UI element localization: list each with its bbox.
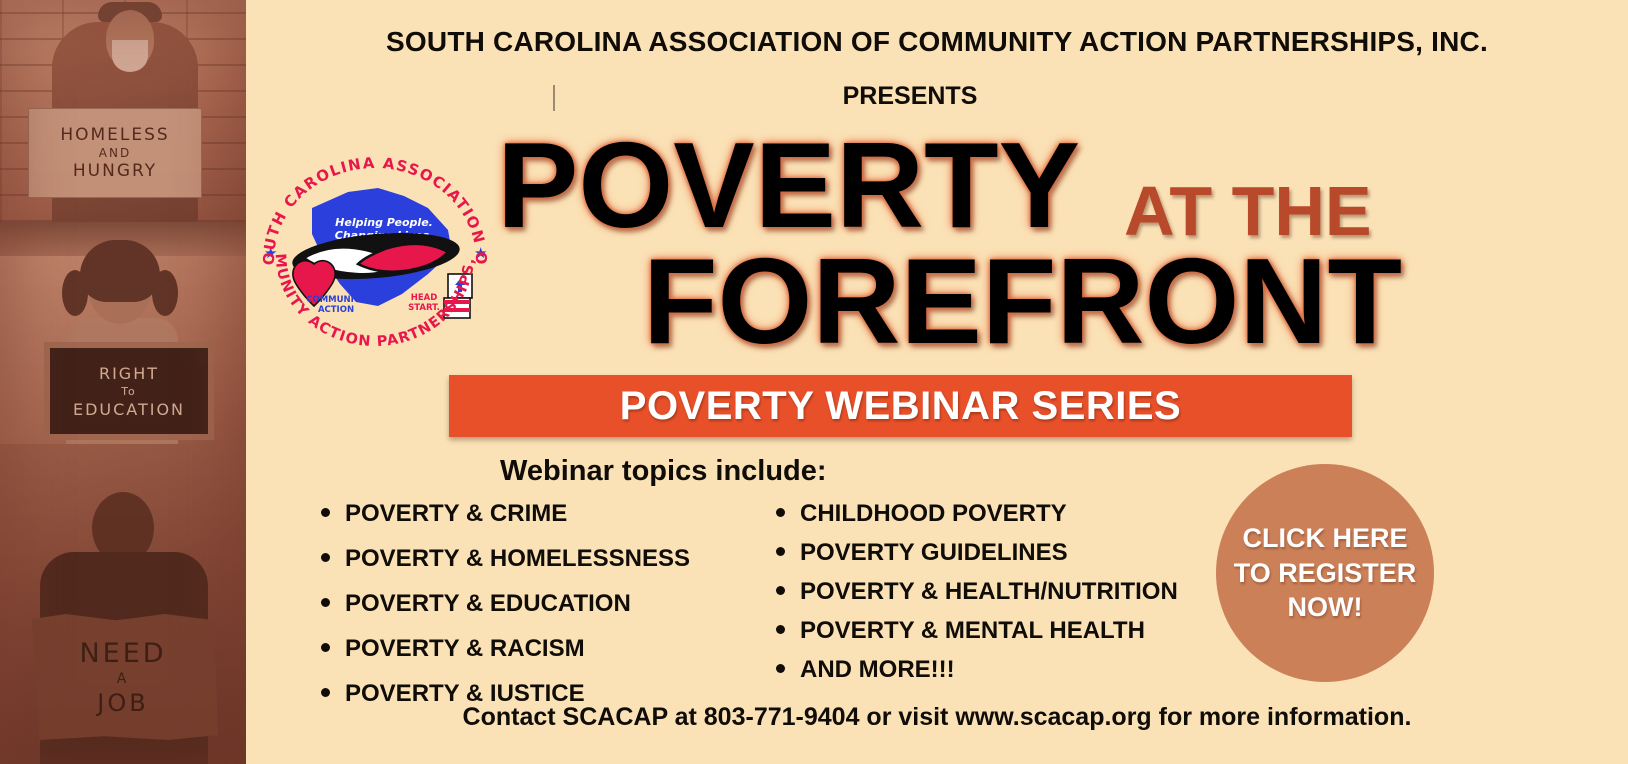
photo-homeless-and-hungry: HOMELESS AND HUNGRY xyxy=(0,0,246,222)
topic-label: CHILDHOOD POVERTY xyxy=(800,500,1067,528)
list-item: POVERTY & RACISM xyxy=(321,635,690,663)
photo-need-a-job: NEED A JOB xyxy=(0,444,246,764)
bullet-icon xyxy=(776,586,785,595)
cta-line-3: NOW! xyxy=(1288,593,1363,621)
photo-right-to-education: RIGHT To EDUCATION xyxy=(0,222,246,444)
education-sign-line1: RIGHT xyxy=(99,364,159,383)
topic-label: POVERTY & CRIME xyxy=(345,500,567,528)
education-sign-line3: EDUCATION xyxy=(73,400,185,419)
title-forefront: FOREFRONT xyxy=(643,240,1402,362)
topic-label: POVERTY GUIDELINES xyxy=(800,539,1068,567)
man-beard xyxy=(112,40,148,72)
presents-label: PRESENTS xyxy=(560,82,1260,111)
bullet-icon xyxy=(321,508,330,517)
cta-line-1: CLICK HERE xyxy=(1242,524,1407,552)
list-item: CHILDHOOD POVERTY xyxy=(776,500,1178,528)
topic-label: POVERTY & RACISM xyxy=(345,635,585,663)
job-sign-line2: A xyxy=(117,671,130,687)
register-now-button[interactable]: CLICK HERE TO REGISTER NOW! xyxy=(1216,464,1434,682)
logo-tagline-line1: Helping People. xyxy=(335,216,433,229)
homeless-sign-line3: HUNGRY xyxy=(73,161,157,181)
homeless-sign-line1: HOMELESS xyxy=(60,125,169,145)
bullet-icon xyxy=(321,598,330,607)
list-item: AND MORE!!! xyxy=(776,656,1178,684)
title-poverty: POVERTY xyxy=(497,124,1080,246)
bullet-icon xyxy=(776,547,785,556)
list-item: POVERTY & HEALTH/NUTRITION xyxy=(776,578,1178,606)
list-item: POVERTY & EDUCATION xyxy=(321,590,690,618)
bullet-icon xyxy=(776,508,785,517)
photo-strip: HOMELESS AND HUNGRY RIGHT To EDUCATION xyxy=(0,0,246,764)
contact-information: Contact SCACAP at 803-771-9404 or visit … xyxy=(246,703,1628,732)
education-sign-line2: To xyxy=(121,385,137,398)
education-chalkboard: RIGHT To EDUCATION xyxy=(44,342,214,440)
head-start-line1: HEAD xyxy=(411,293,438,303)
topics-list-left: POVERTY & CRIME POVERTY & HOMELESSNESS P… xyxy=(321,500,690,725)
job-sign-line1: NEED xyxy=(79,638,166,669)
text-cursor-caret xyxy=(553,85,555,111)
webinar-series-label: POVERTY WEBINAR SERIES xyxy=(620,384,1181,429)
list-item: POVERTY & CRIME xyxy=(321,500,690,528)
bullet-icon xyxy=(321,553,330,562)
topics-heading: Webinar topics include: xyxy=(500,455,827,488)
list-item: POVERTY GUIDELINES xyxy=(776,539,1178,567)
topic-label: AND MORE!!! xyxy=(800,656,955,684)
bullet-icon xyxy=(321,688,330,697)
cta-line-2: TO REGISTER xyxy=(1234,559,1417,587)
topic-label: POVERTY & HOMELESSNESS xyxy=(345,545,690,573)
bullet-icon xyxy=(321,643,330,652)
girl-hair xyxy=(80,240,160,302)
topics-list-right: CHILDHOOD POVERTY POVERTY GUIDELINES POV… xyxy=(776,500,1178,695)
homeless-sign: HOMELESS AND HUNGRY xyxy=(28,108,202,198)
head-start-line2: START. xyxy=(408,303,440,313)
list-item: POVERTY & MENTAL HEALTH xyxy=(776,617,1178,645)
community-action-line1: COMMUNITY xyxy=(306,295,366,305)
webinar-series-banner: POVERTY WEBINAR SERIES xyxy=(449,375,1352,437)
list-item: POVERTY & HOMELESSNESS xyxy=(321,545,690,573)
need-a-job-sign: NEED A JOB xyxy=(28,614,218,740)
community-action-line2: ACTION xyxy=(318,305,354,315)
topic-label: POVERTY & EDUCATION xyxy=(345,590,631,618)
topic-label: POVERTY & HEALTH/NUTRITION xyxy=(800,578,1178,606)
topic-label: POVERTY & MENTAL HEALTH xyxy=(800,617,1145,645)
scacap-logo: Helping People. Changing Lives. COMMUNIT… xyxy=(252,134,498,354)
job-sign-line3: JOB xyxy=(97,689,148,717)
organization-title: SOUTH CAROLINA ASSOCIATION OF COMMUNITY … xyxy=(246,26,1628,58)
bullet-icon xyxy=(776,664,785,673)
homeless-sign-line2: AND xyxy=(99,146,131,160)
bullet-icon xyxy=(776,625,785,634)
poverty-webinar-banner: HOMELESS AND HUNGRY RIGHT To EDUCATION xyxy=(0,0,1628,764)
